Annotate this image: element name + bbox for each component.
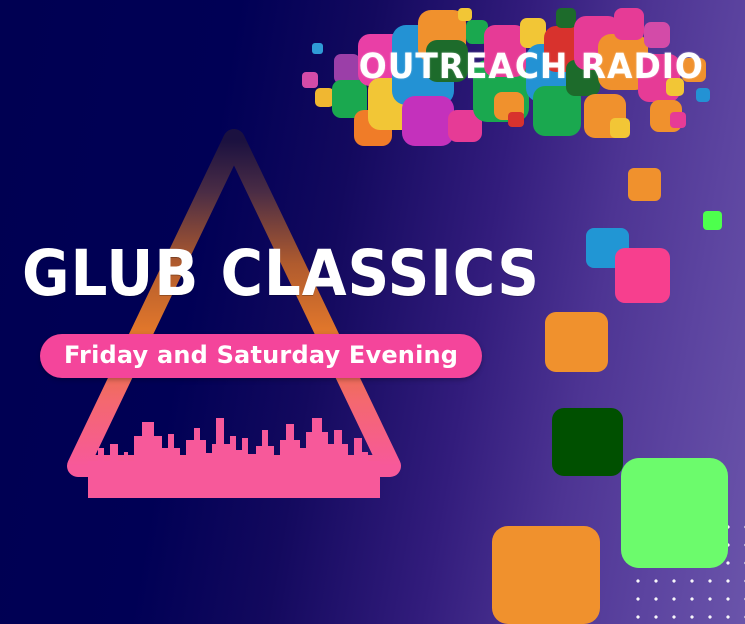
- logo-tile: [458, 8, 472, 21]
- schedule-badge: Friday and Saturday Evening: [40, 334, 482, 378]
- square-brightgreen: [621, 458, 728, 568]
- square-pink: [615, 248, 670, 303]
- triangle-cityscape-graphic: [38, 118, 430, 503]
- headline-block: GLUB CLASSICS: [22, 243, 522, 305]
- square-orange-large: [492, 526, 600, 624]
- page-title: GLUB CLASSICS: [22, 243, 482, 305]
- logo-tile: [402, 96, 454, 146]
- logo-tile: [610, 118, 630, 138]
- poster-canvas: GLUB CLASSICS Friday and Saturday Evenin…: [0, 0, 745, 624]
- logo-tile: [312, 43, 323, 54]
- station-logo: OUTREACH RADIO: [298, 0, 745, 152]
- station-logo-text: OUTREACH RADIO: [359, 47, 697, 87]
- square-green-tiny: [703, 211, 722, 230]
- logo-tile: [614, 8, 644, 40]
- logo-tile: [644, 22, 670, 48]
- square-orange-small-top: [628, 168, 661, 201]
- logo-tile: [696, 88, 710, 102]
- logo-tile: [556, 8, 576, 28]
- square-orange-mid: [545, 312, 608, 372]
- square-darkgreen: [552, 408, 623, 476]
- logo-tile: [302, 72, 318, 88]
- logo-tile: [670, 112, 686, 128]
- logo-tile: [508, 112, 524, 127]
- schedule-badge-label: Friday and Saturday Evening: [64, 341, 458, 369]
